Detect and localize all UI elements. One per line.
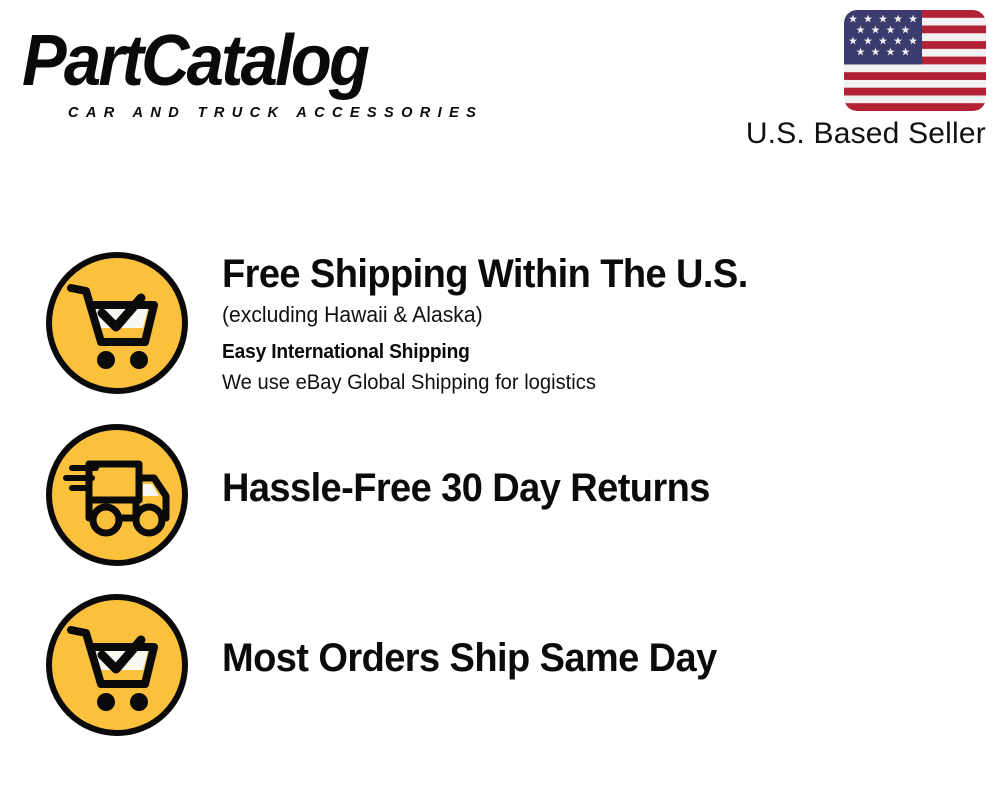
feature-text-block: Hassle-Free 30 Day Returns xyxy=(190,422,944,512)
brand-logo: PartCatalog CAR AND TRUCK ACCESSORIES xyxy=(22,22,502,117)
feature-row: Hassle-Free 30 Day Returns xyxy=(44,422,944,568)
brand-tagline: CAR AND TRUCK ACCESSORIES xyxy=(68,104,483,122)
feature-subnote: We use eBay Global Shipping for logistic… xyxy=(222,368,915,398)
feature-heading: Most Orders Ship Same Day xyxy=(222,634,908,682)
feature-note: (excluding Hawaii & Alaska) xyxy=(222,298,915,332)
us-based-seller-badge: U.S. Based Seller xyxy=(711,10,986,153)
banner-header: PartCatalog CAR AND TRUCK ACCESSORIES xyxy=(0,0,1000,170)
seller-info-banner: PartCatalog CAR AND TRUCK ACCESSORIES xyxy=(0,0,1000,800)
feature-row: Free Shipping Within The U.S. (excluding… xyxy=(44,250,944,398)
shopping-cart-check-icon xyxy=(44,250,190,396)
feature-text-block: Most Orders Ship Same Day xyxy=(190,592,944,682)
feature-text-block: Free Shipping Within The U.S. (excluding… xyxy=(190,250,944,398)
shopping-cart-check-icon xyxy=(44,592,190,738)
delivery-truck-icon xyxy=(44,422,190,568)
us-flag-icon xyxy=(844,10,986,111)
feature-heading: Free Shipping Within The U.S. xyxy=(222,250,908,298)
feature-heading: Hassle-Free 30 Day Returns xyxy=(222,464,908,512)
feature-row: Most Orders Ship Same Day xyxy=(44,592,944,738)
brand-wordmark: PartCatalog xyxy=(22,22,468,100)
us-based-seller-label: U.S. Based Seller xyxy=(746,115,986,153)
feature-subheading: Easy International Shipping xyxy=(222,336,915,368)
